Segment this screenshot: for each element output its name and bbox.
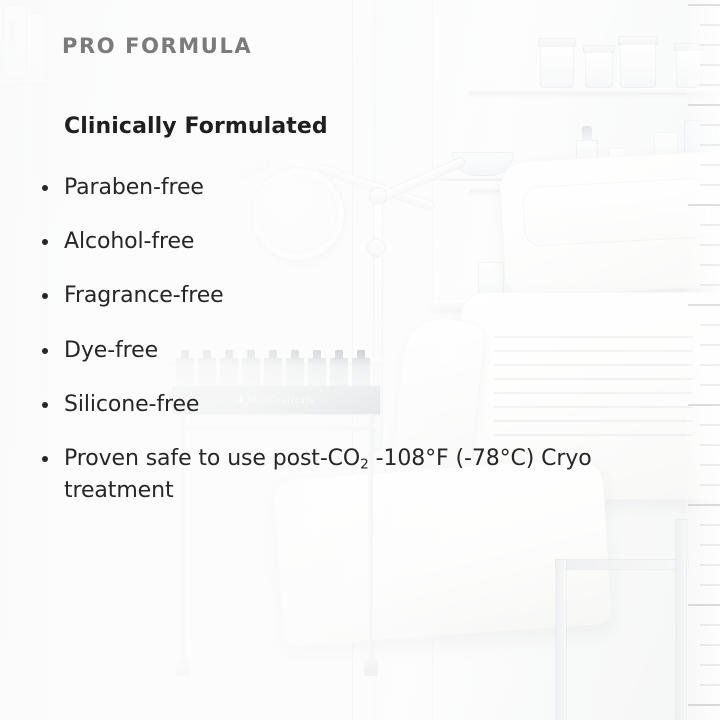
page-title: Clinically Formulated (64, 114, 328, 139)
list-item: Alcohol-free (40, 226, 600, 257)
promo-card: ❦SkinCeuticals PRO FORMULA Clinically Fo… (0, 0, 720, 720)
list-item: Silicone-free (40, 389, 600, 420)
list-item: Paraben-free (40, 172, 600, 203)
co2-subscript: 2 (360, 457, 369, 473)
eyebrow-label: PRO FORMULA (62, 34, 252, 58)
list-item-cryo: Proven safe to use post-CO2 -108°F (-78°… (40, 443, 600, 506)
feature-list: Paraben-free Alcohol-free Fragrance-free… (40, 172, 600, 506)
list-item: Dye-free (40, 335, 600, 366)
text-layer: PRO FORMULA Clinically Formulated Parabe… (0, 0, 720, 720)
list-item: Fragrance-free (40, 280, 600, 311)
cryo-text-part1: Proven safe to use post-CO (64, 446, 360, 471)
